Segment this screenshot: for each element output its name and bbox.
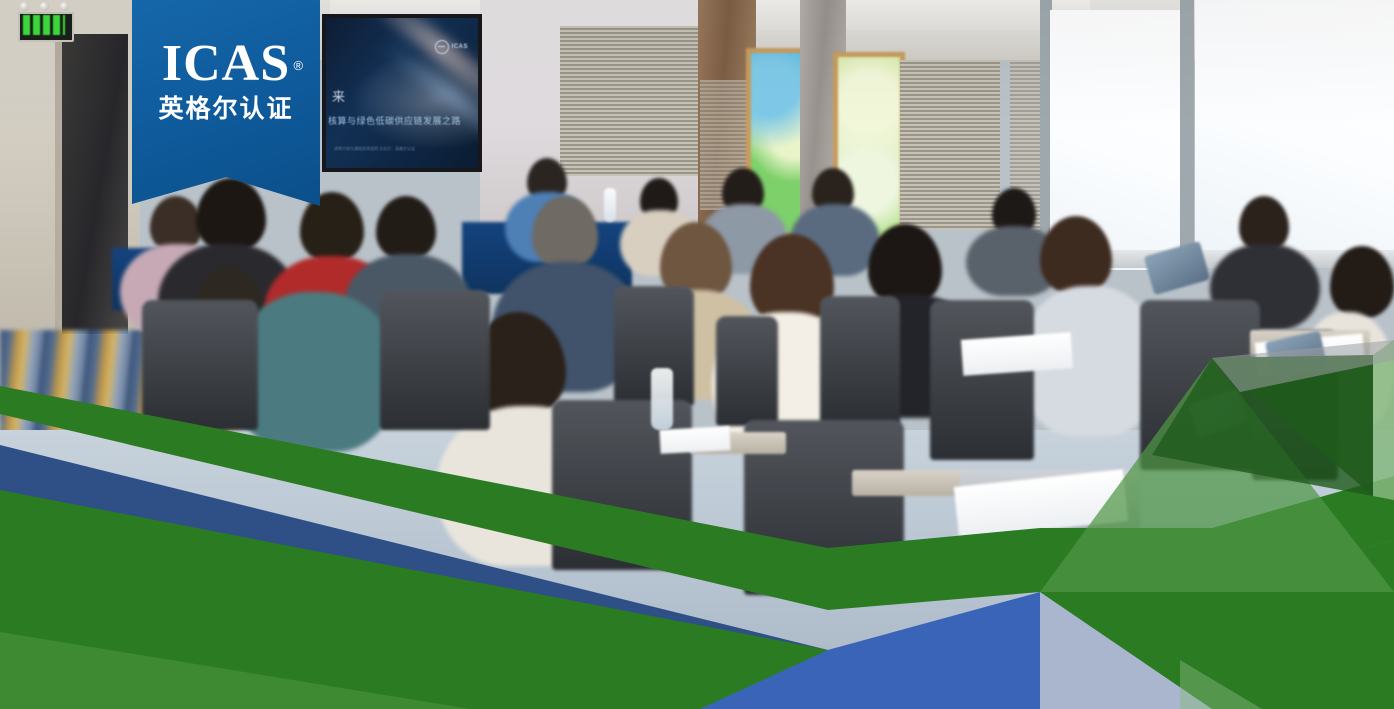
geometric-overlay — [0, 0, 1394, 709]
overlay-svg — [0, 0, 1394, 709]
marketing-banner: ICAS 来 核算与绿色低碳供应链发展之路 讲师介绍与课程安排说明 主办方：英格… — [0, 0, 1394, 709]
shape-green-strip-right — [1373, 340, 1394, 500]
